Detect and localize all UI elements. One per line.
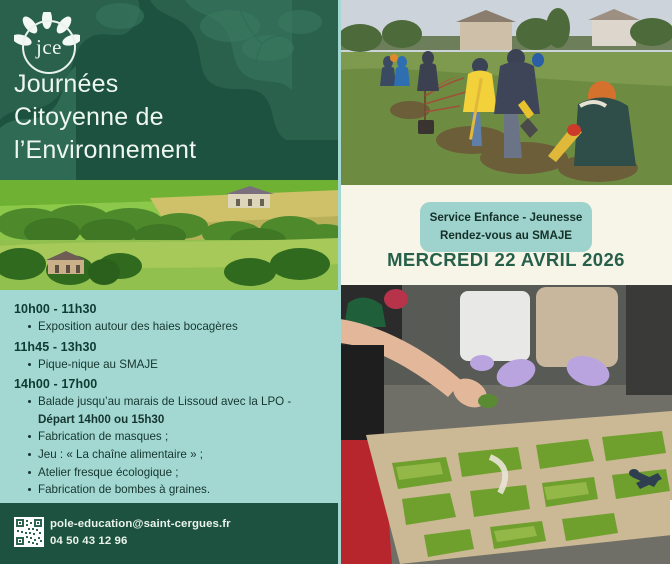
schedule-block: 14h00 - 17h00 Balade jusqu’au marais de … bbox=[14, 377, 326, 499]
jce-logo-circle: jce bbox=[22, 20, 76, 74]
schedule-item-text: Balade jusqu’au marais de Lissoud avec l… bbox=[38, 395, 291, 408]
pill-line-1: Service Enfance - Jeunesse bbox=[426, 209, 586, 227]
countryside-farmland-photo bbox=[0, 180, 340, 290]
event-date: MERCREDI 22 AVRIL 2026 bbox=[340, 249, 672, 271]
schedule-item-text: Pique-nique au SMAJE bbox=[38, 358, 158, 371]
qr-code[interactable] bbox=[14, 517, 44, 547]
title-line-3: l’Environnement bbox=[14, 134, 314, 167]
event-banner: Service Enfance - Jeunesse Rendez-vous a… bbox=[340, 185, 672, 285]
schedule-item: Pique-nique au SMAJE bbox=[28, 356, 326, 374]
schedule-items: Exposition autour des haies bocagères bbox=[14, 318, 326, 336]
right-column: Service Enfance - Jeunesse Rendez-vous a… bbox=[340, 0, 672, 564]
pill-line-2: Rendez-vous au SMAJE bbox=[426, 227, 586, 245]
column-divider bbox=[338, 0, 341, 564]
schedule-block: 11h45 - 13h30 Pique-nique au SMAJE bbox=[14, 340, 326, 374]
schedule-item: Balade jusqu’au marais de Lissoud avec l… bbox=[28, 393, 326, 428]
countryside-illustration bbox=[0, 180, 340, 290]
schedule-items: Balade jusqu’au marais de Lissoud avec l… bbox=[14, 393, 326, 499]
schedule-item: Fabrication de masques ; bbox=[28, 428, 326, 446]
service-pill: Service Enfance - Jeunesse Rendez-vous a… bbox=[420, 202, 592, 252]
schedule-item-emphasis: Départ 14h00 ou 15h30 bbox=[38, 413, 164, 426]
schedule-item: Exposition autour des haies bocagères bbox=[28, 318, 326, 336]
schedule-item-text: Exposition autour des haies bocagères bbox=[38, 320, 238, 333]
schedule-item-text: Fabrication de masques ; bbox=[38, 430, 168, 443]
schedule-section: 10h00 - 11h30 Exposition autour des haie… bbox=[0, 290, 340, 503]
contact-footer: pole-education@saint-cergues.fr 04 50 43… bbox=[0, 503, 340, 564]
tree-planting-volunteers-photo bbox=[340, 0, 672, 185]
header-block: jce Journées Citoyenne de l’Environnemen… bbox=[0, 0, 340, 180]
page-title: Journées Citoyenne de l’Environnement bbox=[14, 68, 314, 167]
contact-email[interactable]: pole-education@saint-cergues.fr bbox=[50, 516, 231, 533]
title-line-2: Citoyenne de bbox=[14, 101, 314, 134]
schedule-item-text: Atelier fresque écologique ; bbox=[38, 466, 179, 479]
tree-planting-illustration bbox=[340, 0, 672, 185]
jce-logo-text: jce bbox=[36, 37, 62, 58]
schedule-item: Fabrication de bombes à graines. bbox=[28, 481, 326, 499]
moss-workshop-illustration bbox=[340, 285, 672, 564]
schedule-item: Atelier fresque écologique ; bbox=[28, 464, 326, 482]
schedule-item-text: Jeu : « La chaîne alimentaire » ; bbox=[38, 448, 203, 461]
schedule-time: 10h00 - 11h30 bbox=[14, 302, 326, 316]
title-line-1: Journées bbox=[14, 68, 314, 101]
schedule-item-text: Fabrication de bombes à graines. bbox=[38, 483, 210, 496]
schedule-items: Pique-nique au SMAJE bbox=[14, 356, 326, 374]
schedule-item: Jeu : « La chaîne alimentaire » ; bbox=[28, 446, 326, 464]
left-column: jce Journées Citoyenne de l’Environnemen… bbox=[0, 0, 340, 564]
contact-details: pole-education@saint-cergues.fr 04 50 43… bbox=[50, 516, 231, 550]
qr-code-graphic bbox=[15, 518, 43, 546]
moss-art-workshop-photo bbox=[340, 285, 672, 564]
contact-phone[interactable]: 04 50 43 12 96 bbox=[50, 533, 231, 550]
poster: jce Journées Citoyenne de l’Environnemen… bbox=[0, 0, 672, 564]
schedule-block: 10h00 - 11h30 Exposition autour des haie… bbox=[14, 302, 326, 336]
schedule-time: 14h00 - 17h00 bbox=[14, 377, 326, 391]
schedule-time: 11h45 - 13h30 bbox=[14, 340, 326, 354]
